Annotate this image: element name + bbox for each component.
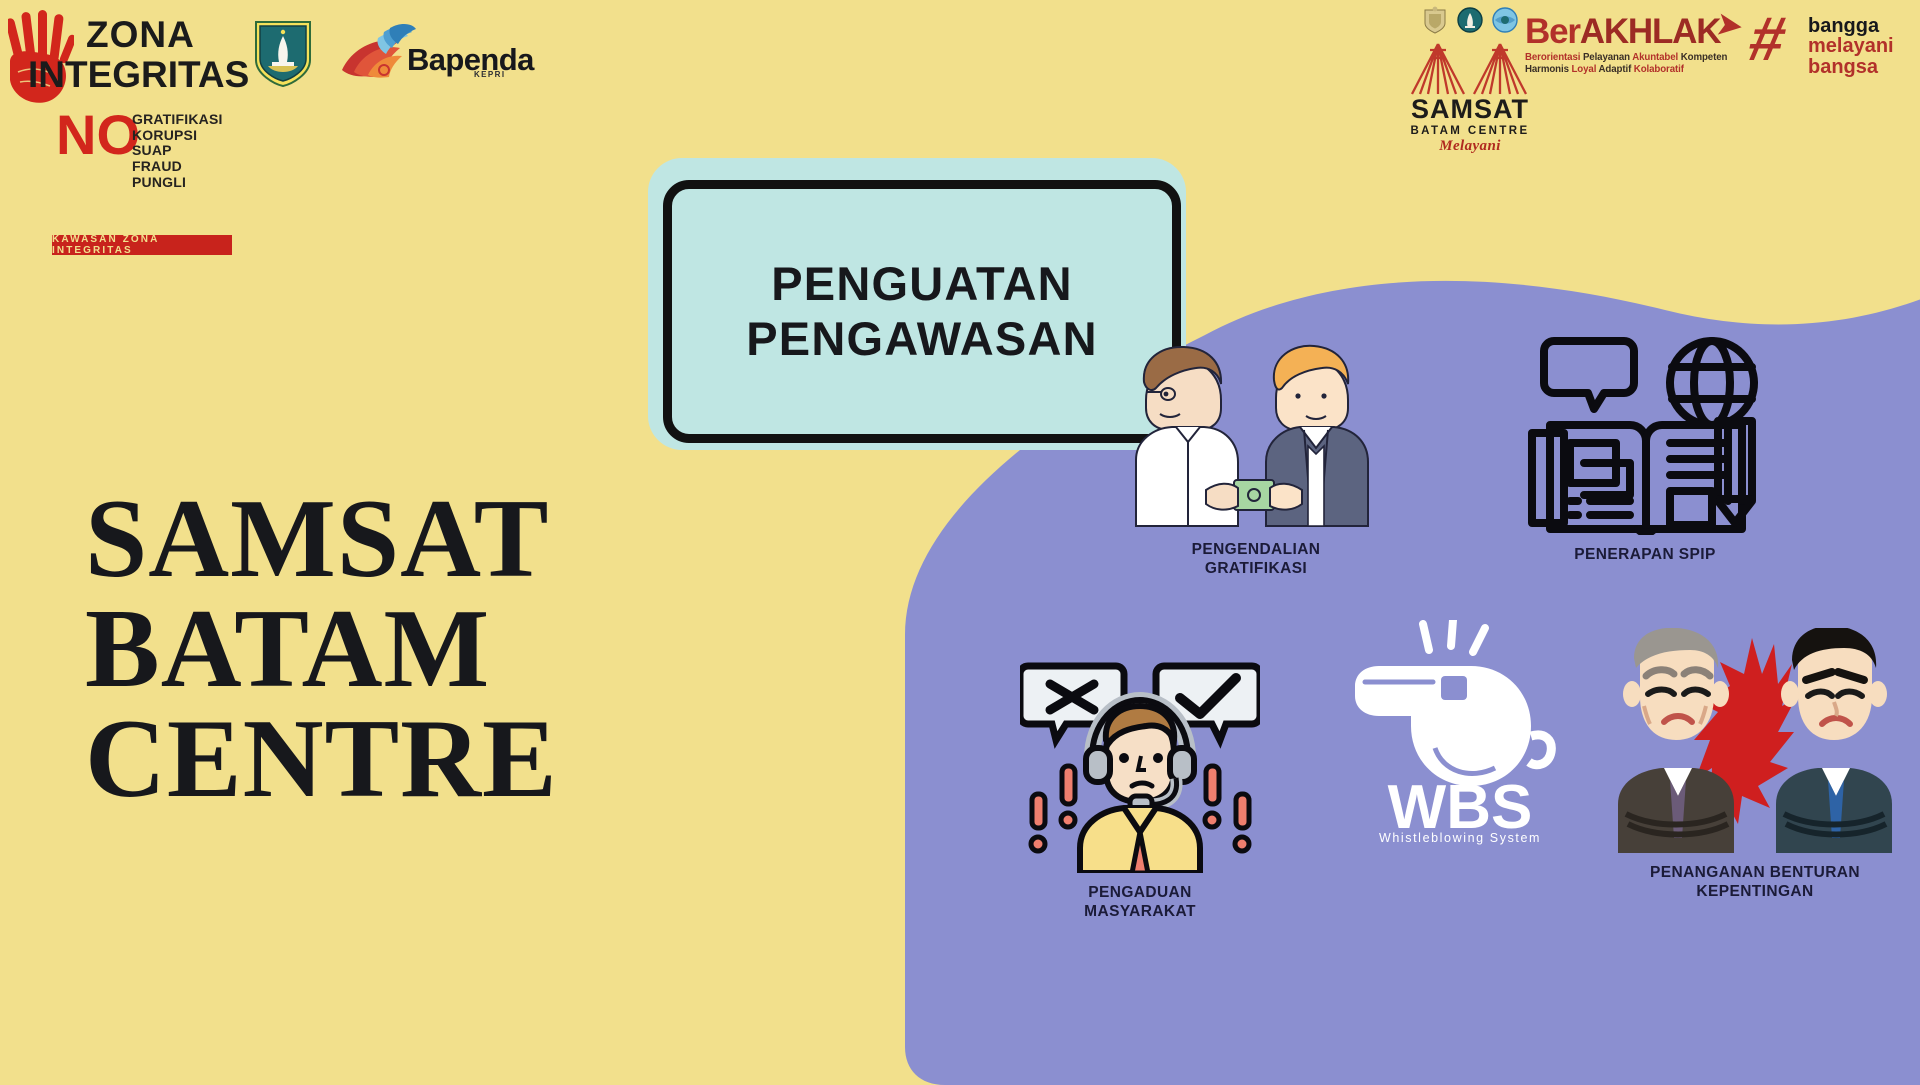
list-item: PUNGLI [132,175,223,191]
page-title: SAMSAT BATAM CENTRE [85,485,785,814]
poster-canvas: ZONA INTEGRITAS NO GRATIFIKASI KORUPSI S… [0,0,1920,1080]
tile-penerapan-spip: PENERAPAN SPIP [1495,325,1795,565]
list-item: SUAP [132,143,223,159]
integritas-text: INTEGRITAS [28,56,249,93]
bangga-melayani-bangsa-logo: # bangga melayani bangsa [1750,10,1915,86]
heading-line-2: BATAM [85,595,785,705]
bapenda-subtext: KEPRI [474,70,505,79]
tile-label: PENGADUAN MASYARAKAT [1000,884,1280,922]
no-text: NO [56,112,140,158]
whistle-icon: WBS Whistleblowing System [1345,620,1575,845]
title-line-2: PENGAWASAN [746,312,1098,367]
kepri-provincial-crest-icon [252,16,314,88]
bangga-line-3: bangsa [1808,57,1894,77]
berakhlak-tagline: Berorientasi Pelayanan Akuntabel Kompete… [1525,52,1740,76]
bapenda-logo: Bapenda KEPRI [334,20,514,88]
prohibited-list: GRATIFIKASI KORUPSI SUAP FRAUD PUNGLI [132,112,223,190]
police-crest-icon [1422,6,1448,34]
headset-complaint-icon [1020,648,1260,873]
bangga-lines: bangga melayani bangsa [1808,16,1894,77]
wbs-subtitle-text: Whistleblowing System [1379,831,1541,845]
zona-text: ZONA [86,16,195,53]
berakhlak-logo: BerAKHLAK ➤ Berorientasi Pelayanan Akunt… [1525,14,1740,86]
tile-penanganan-benturan-kepentingan: PENANGANAN BENTURAN KEPENTINGAN [1590,628,1920,902]
title-line-1: PENGUATAN [746,257,1098,312]
heading-line-1: SAMSAT [85,485,785,595]
tile-wbs: WBS Whistleblowing System [1330,620,1590,856]
kepri-crest-small-icon [1457,6,1483,34]
tile-pengaduan-masyarakat: PENGADUAN MASYARAKAT [1000,648,1280,922]
bangga-line-1: bangga [1808,16,1894,36]
bribery-handover-icon [1126,330,1386,530]
tile-pengendalian-gratifikasi: PENGENDALIAN GRATIFIKASI [1096,330,1416,579]
bangga-line-2: melayani [1808,36,1894,56]
tile-label: PENANGANAN BENTURAN KEPENTINGAN [1590,864,1920,902]
jasa-raharja-crest-icon [1492,6,1518,34]
heading-line-3: CENTRE [85,705,785,815]
kawasan-banner: KAWASAN ZONA INTEGRITAS [52,235,232,255]
title-card-text: PENGUATAN PENGAWASAN [746,257,1098,366]
berakhlak-arrow-icon: ➤ [1715,6,1745,44]
hashtag-icon: # [1744,14,1790,67]
zona-integritas-logo: ZONA INTEGRITAS NO GRATIFIKASI KORUPSI S… [8,8,238,248]
tagline-line-2: Harmonis Loyal Adaptif Kolaboratif [1525,64,1740,76]
melayani-script: Melayani [1370,138,1570,155]
list-item: KORUPSI [132,128,223,144]
samsat-sub-wordmark: BATAM CENTRE [1370,125,1570,137]
tile-label: PENGENDALIAN GRATIFIKASI [1096,541,1416,579]
bapenda-wordmark: Bapenda [407,42,534,78]
list-item: FRAUD [132,159,223,175]
two-angry-men-icon [1610,628,1900,853]
berakhlak-wordmark: BerAKHLAK [1525,14,1740,49]
tagline-line-1: Berorientasi Pelayanan Akuntabel Kompete… [1525,52,1740,64]
list-item: GRATIFIKASI [132,112,223,128]
samsat-wordmark: SAMSAT [1370,96,1570,123]
tile-label: PENERAPAN SPIP [1495,546,1795,565]
book-globe-pencil-icon [1520,325,1770,535]
